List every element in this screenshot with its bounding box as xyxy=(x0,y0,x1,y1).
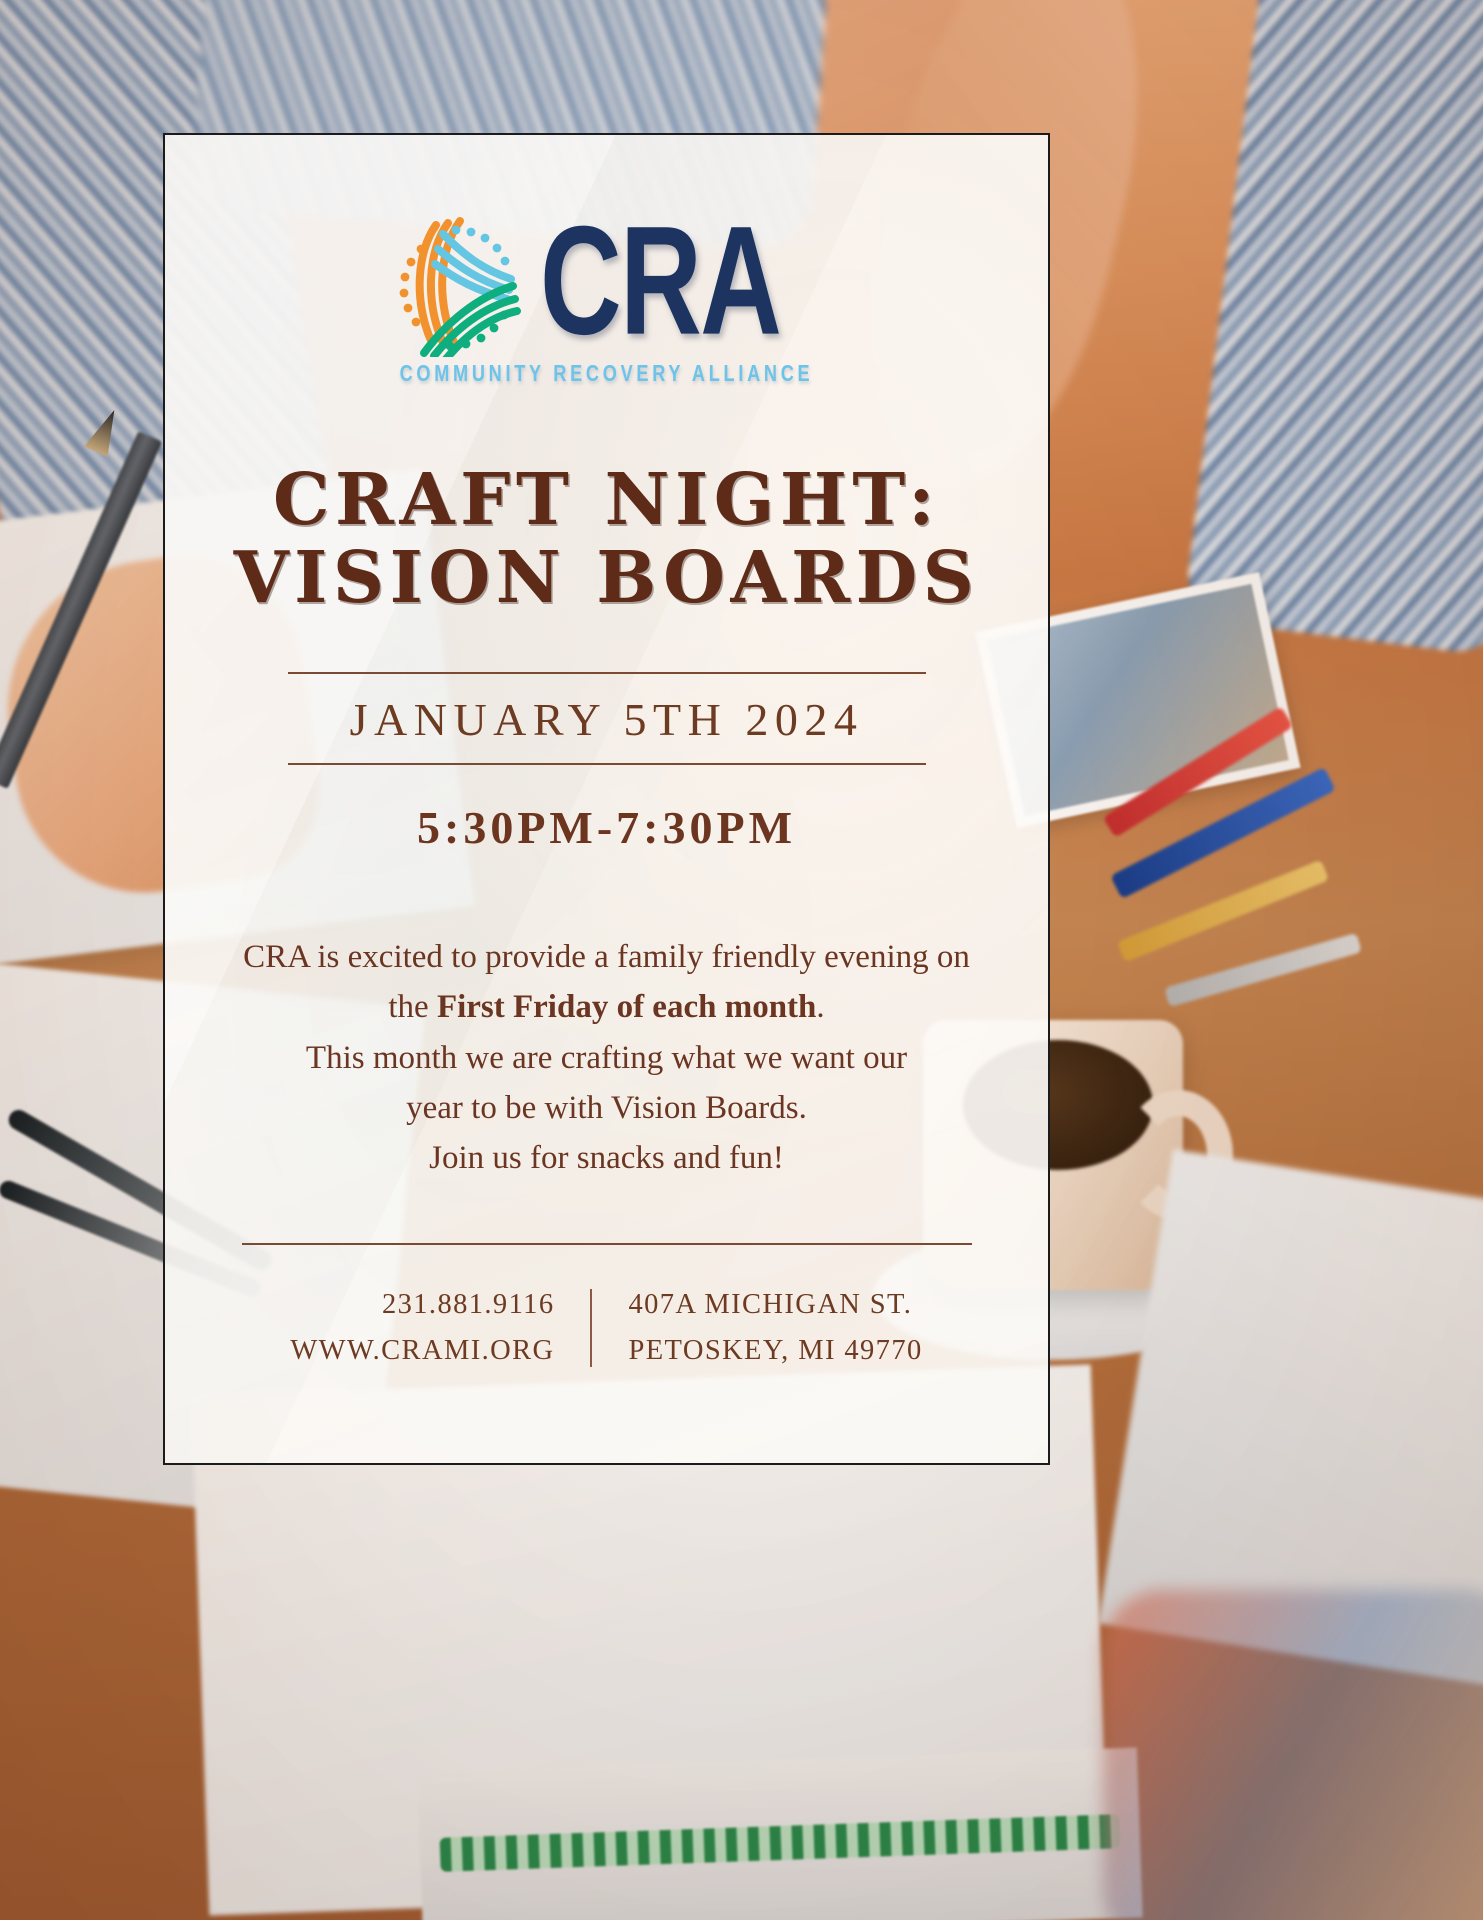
logo-tagline: COMMUNITY RECOVERY ALLIANCE xyxy=(400,361,814,388)
cra-swoosh-logo-icon xyxy=(380,207,530,357)
logo-lockup: CRA xyxy=(380,207,833,357)
contact-column-left: 231.881.9116 WWW.CRAMI.ORG xyxy=(290,1289,590,1367)
divider-above-contact xyxy=(242,1243,972,1245)
contact-block: 231.881.9116 WWW.CRAMI.ORG 407A MICHIGAN… xyxy=(290,1289,922,1367)
description-line-3: This month we are crafting what we want … xyxy=(221,1033,992,1083)
contact-column-right: 407A MICHIGAN ST. PETOSKEY, MI 49770 xyxy=(592,1289,922,1367)
description-line-2-suffix: . xyxy=(816,989,824,1025)
description-line-4: year to be with Vision Boards. xyxy=(221,1083,992,1133)
description-highlight: First Friday of each month xyxy=(437,989,816,1025)
contact-website[interactable]: WWW.CRAMI.ORG xyxy=(290,1335,554,1367)
description-line-5: Join us for snacks and fun! xyxy=(221,1133,992,1183)
event-time: 5:30PM-7:30PM xyxy=(221,765,992,854)
description-line-2-prefix: the xyxy=(388,989,437,1025)
logo-wordmark: CRA xyxy=(540,219,780,346)
logo-block: CRA COMMUNITY RECOVERY ALLIANCE xyxy=(380,207,833,386)
event-date: JANUARY 5TH 2024 xyxy=(221,674,992,763)
description-line-1: CRA is excited to provide a family frien… xyxy=(221,932,992,982)
title-line-1: CRAFT NIGHT: xyxy=(273,457,940,541)
event-description: CRA is excited to provide a family frien… xyxy=(221,932,992,1183)
contact-address-line-2: PETOSKEY, MI 49770 xyxy=(628,1335,922,1367)
flyer-card: CRA COMMUNITY RECOVERY ALLIANCE CRAFT NI… xyxy=(163,133,1050,1465)
event-datetime-block: JANUARY 5TH 2024 5:30PM-7:30PM xyxy=(221,616,992,854)
title-line-2: VISION BOARDS xyxy=(234,535,980,619)
description-line-2: the First Friday of each month. xyxy=(221,982,992,1032)
contact-phone[interactable]: 231.881.9116 xyxy=(290,1289,554,1321)
contact-address-line-1: 407A MICHIGAN ST. xyxy=(628,1289,922,1321)
page-title: CRAFT NIGHT: VISION BOARDS xyxy=(234,460,980,616)
